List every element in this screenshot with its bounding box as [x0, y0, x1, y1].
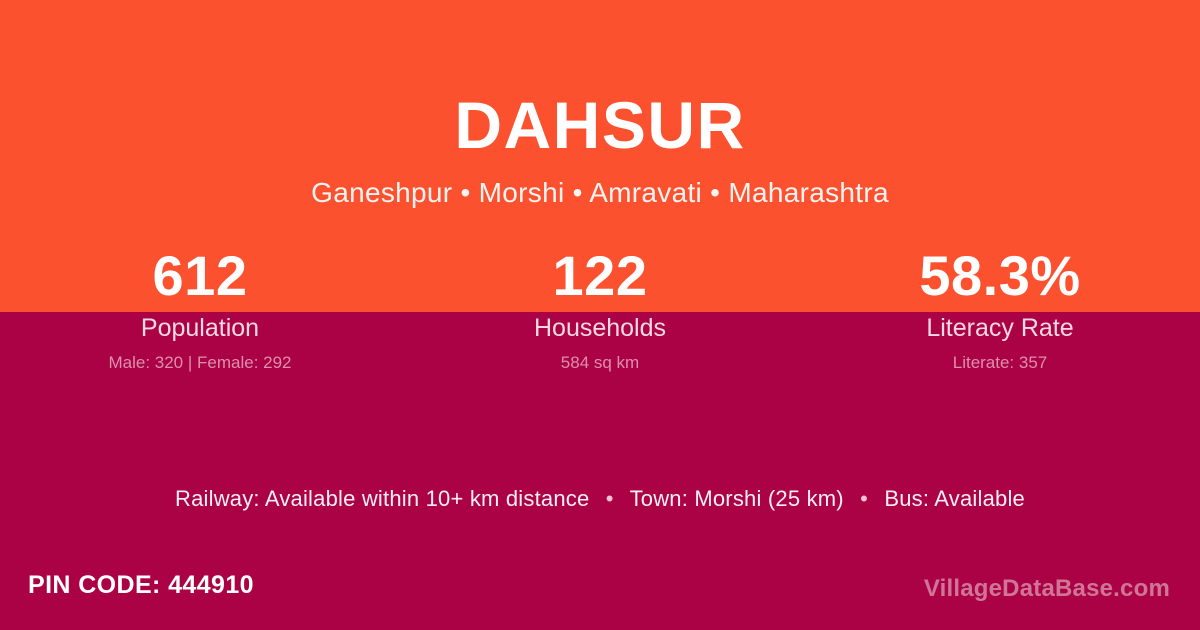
facility-bus: Bus: Available — [884, 486, 1025, 511]
stat-literacy-rate: 58.3% Literacy Rate Literate: 357 — [800, 243, 1200, 373]
site-watermark: VillageDataBase.com — [924, 574, 1170, 604]
facilities-line: Railway: Available within 10+ km distanc… — [0, 484, 1200, 514]
stat-value: 122 — [400, 243, 800, 309]
pin-code: PIN CODE: 444910 — [28, 570, 254, 600]
stat-sublabel: Literate: 357 — [800, 352, 1200, 373]
facility-railway: Railway: Available within 10+ km distanc… — [175, 486, 589, 511]
stat-population: 612 Population Male: 320 | Female: 292 — [0, 243, 400, 373]
village-info-card: DAHSUR Ganeshpur • Morshi • Amravati • M… — [0, 0, 1200, 630]
bullet-separator-icon: • — [596, 484, 624, 514]
stat-value: 58.3% — [800, 243, 1200, 309]
stat-label: Population — [0, 313, 400, 343]
facility-town: Town: Morshi (25 km) — [630, 486, 844, 511]
stat-households: 122 Households 584 sq km — [400, 243, 800, 373]
card-header: DAHSUR Ganeshpur • Morshi • Amravati • M… — [0, 0, 1200, 210]
stat-label: Households — [400, 313, 800, 343]
stat-value: 612 — [0, 243, 400, 309]
page-title: DAHSUR — [0, 0, 1200, 164]
card-footer: PIN CODE: 444910 VillageDataBase.com — [0, 556, 1200, 630]
bullet-separator-icon: • — [850, 484, 878, 514]
stats-row: 612 Population Male: 320 | Female: 292 1… — [0, 243, 1200, 373]
stat-sublabel: 584 sq km — [400, 352, 800, 373]
stat-sublabel: Male: 320 | Female: 292 — [0, 352, 400, 373]
stat-label: Literacy Rate — [800, 313, 1200, 343]
breadcrumb: Ganeshpur • Morshi • Amravati • Maharash… — [0, 164, 1200, 210]
